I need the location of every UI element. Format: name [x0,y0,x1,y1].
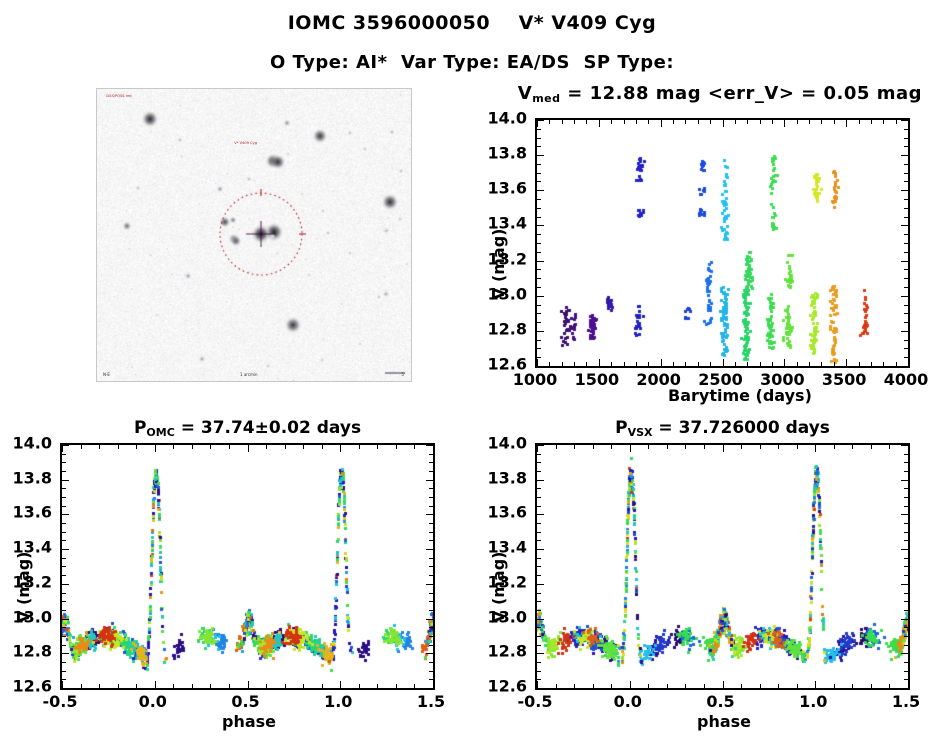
phase-omc-canvas [62,445,433,688]
axis-minor-tick [136,684,137,688]
axis-minor-tick [593,445,594,449]
y-tick-label: 13.4 [488,214,527,233]
axis-tick [901,261,908,262]
axis-tick [426,619,433,620]
phase-vsx-title: PVSX = 37.726000 days [535,418,910,439]
axis-minor-tick [266,684,267,688]
axis-minor-tick [772,120,773,124]
page-title: IOMC 3596000050 V* V409 Cyg [0,12,944,34]
phase-omc-title: POMC = 37.74±0.02 days [60,418,435,439]
y-tick-label: 13.6 [13,503,52,522]
axis-tick [723,359,724,366]
axis-minor-tick [904,217,908,218]
axis-minor-tick [797,362,798,366]
y-tick-label: 13.8 [488,468,527,487]
axis-minor-tick [537,662,541,663]
x-tick-label: 3000 [760,370,805,389]
axis-tick [901,688,908,689]
sky-finding-chart[interactable]: DSS/POSS red V* V409 Cyg N-E 1 arcmin 5' [96,88,412,382]
axis-minor-tick [574,445,575,449]
axis-tick [155,445,156,452]
axis-tick [901,120,908,121]
y-tick-label: 13.4 [488,538,527,557]
axis-minor-tick [429,662,433,663]
axis-minor-tick [537,305,541,306]
axis-minor-tick [797,120,798,124]
axis-minor-tick [266,445,267,449]
axis-tick [723,445,724,452]
y-tick-label: 13.0 [13,607,52,626]
axis-minor-tick [904,454,908,455]
y-tick-label: 13.2 [13,572,52,591]
axis-minor-tick [429,679,433,680]
axis-minor-tick [537,679,541,680]
axis-minor-tick [636,362,637,366]
axis-minor-tick [904,566,908,567]
sky-scalebar-label: 5' [401,372,405,377]
vmed-subscript: med [532,92,560,105]
axis-minor-tick [99,445,100,449]
axis-tick [537,619,544,620]
axis-minor-tick [429,506,433,507]
y-tick-label: 12.8 [13,642,52,661]
axis-tick [426,688,433,689]
y-tick-label: 12.8 [488,319,527,338]
axis-minor-tick [760,445,761,449]
x-tick-label: 1.0 [324,692,352,711]
axis-minor-tick [760,362,761,366]
vmed-symbol: V [518,83,532,104]
axis-minor-tick [809,120,810,124]
axis-minor-tick [685,684,686,688]
x-tick-label: 0.5 [706,692,734,711]
axis-tick [537,445,544,446]
axis-minor-tick [81,684,82,688]
axis-minor-tick [904,322,908,323]
axis-minor-tick [377,684,378,688]
axis-minor-tick [593,684,594,688]
axis-minor-tick [429,454,433,455]
axis-minor-tick [62,601,66,602]
axis-tick [155,681,156,688]
sky-survey-label: DSS/POSS red [106,93,131,98]
axis-minor-tick [704,684,705,688]
axis-minor-tick [285,684,286,688]
axis-minor-tick [834,120,835,124]
axis-minor-tick [904,129,908,130]
axis-minor-tick [741,445,742,449]
axis-tick [537,681,538,688]
axis-minor-tick [904,287,908,288]
period-symbol: P [134,418,146,438]
axis-minor-tick [429,497,433,498]
axis-minor-tick [537,199,541,200]
axis-minor-tick [834,684,835,688]
axis-tick [723,120,724,127]
axis-minor-tick [904,627,908,628]
axis-minor-tick [883,362,884,366]
axis-minor-tick [834,445,835,449]
sky-image-canvas [97,89,411,381]
axis-minor-tick [904,532,908,533]
axis-minor-tick [549,120,550,124]
axis-minor-tick [537,575,541,576]
axis-minor-tick [322,445,323,449]
axis-minor-tick [537,269,541,270]
axis-tick [901,480,908,481]
axis-minor-tick [537,497,541,498]
axis-minor-tick [904,540,908,541]
axis-tick [661,120,662,127]
axis-minor-tick [735,362,736,366]
axis-minor-tick [429,601,433,602]
axis-tick [846,120,847,127]
axis-minor-tick [904,523,908,524]
axis-minor-tick [210,684,211,688]
sky-target-label: V* V409 Cyg [234,140,257,145]
axis-minor-tick [537,173,541,174]
axis-minor-tick [904,462,908,463]
axis-minor-tick [904,575,908,576]
axis-minor-tick [741,684,742,688]
y-tick-label: 12.6 [488,677,527,696]
object-type-line: O Type: AI* Var Type: EA/DS SP Type: [0,52,944,73]
axis-minor-tick [62,454,66,455]
axis-tick [537,120,544,121]
axis-minor-tick [62,497,66,498]
axis-minor-tick [698,120,699,124]
axis-minor-tick [62,662,66,663]
period-subscript: OMC [146,426,174,439]
axis-minor-tick [229,684,230,688]
period-subscript: VSX [628,426,653,439]
axis-minor-tick [821,120,822,124]
axis-minor-tick [710,362,711,366]
axis-tick [723,681,724,688]
axis-minor-tick [537,234,541,235]
axis-minor-tick [62,566,66,567]
axis-tick [537,688,544,689]
axis-minor-tick [904,340,908,341]
axis-minor-tick [735,120,736,124]
axis-minor-tick [537,532,541,533]
axis-minor-tick [229,445,230,449]
axis-tick [901,653,908,654]
axis-minor-tick [904,234,908,235]
axis-minor-tick [834,362,835,366]
axis-tick [62,445,63,452]
axis-minor-tick [537,340,541,341]
x-tick-label: 3500 [822,370,867,389]
axis-minor-tick [429,671,433,672]
axis-tick [537,225,544,226]
axis-minor-tick [62,558,66,559]
axis-tick [62,480,69,481]
axis-minor-tick [889,445,890,449]
axis-minor-tick [62,645,66,646]
axis-tick [537,261,544,262]
axis-minor-tick [797,684,798,688]
axis-tick [908,359,909,366]
axis-minor-tick [904,671,908,672]
axis-minor-tick [62,532,66,533]
axis-minor-tick [62,540,66,541]
axis-minor-tick [118,445,119,449]
axis-minor-tick [62,523,66,524]
axis-tick [426,584,433,585]
axis-minor-tick [549,362,550,366]
axis-minor-tick [904,662,908,663]
axis-minor-tick [537,627,541,628]
axis-tick [901,514,908,515]
axis-minor-tick [62,488,66,489]
axis-minor-tick [904,497,908,498]
x-tick-label: 0.0 [614,692,642,711]
y-tick-label: 13.6 [488,179,527,198]
axis-tick [901,549,908,550]
y-tick-label: 12.6 [13,677,52,696]
y-tick-label: 13.0 [488,284,527,303]
axis-tick [901,296,908,297]
axis-minor-tick [778,684,779,688]
axis-minor-tick [562,362,563,366]
y-tick-label: 12.8 [488,642,527,661]
axis-tick [248,681,249,688]
axis-minor-tick [673,120,674,124]
axis-minor-tick [285,445,286,449]
axis-minor-tick [322,684,323,688]
axis-minor-tick [414,445,415,449]
axis-minor-tick [685,445,686,449]
axis-minor-tick [871,362,872,366]
axis-minor-tick [871,684,872,688]
axis-minor-tick [429,523,433,524]
axis-minor-tick [537,671,541,672]
axis-minor-tick [303,684,304,688]
axis-minor-tick [760,684,761,688]
axis-tick [426,445,433,446]
axis-minor-tick [537,322,541,323]
x-tick-label: 1.0 [799,692,827,711]
axis-minor-tick [537,462,541,463]
x-tick-label: 2500 [698,370,743,389]
axis-minor-tick [62,462,66,463]
axis-tick [62,688,69,689]
axis-minor-tick [904,305,908,306]
axis-tick [426,514,433,515]
axis-minor-tick [556,684,557,688]
axis-tick [340,445,341,452]
period-symbol: P [615,418,627,438]
axis-minor-tick [904,199,908,200]
axis-minor-tick [62,593,66,594]
axis-minor-tick [537,208,541,209]
axis-minor-tick [537,540,541,541]
x-tick-label: 2000 [636,370,681,389]
axis-tick [901,619,908,620]
axis-minor-tick [772,362,773,366]
axis-minor-tick [747,362,748,366]
axis-minor-tick [429,575,433,576]
axis-tick [340,681,341,688]
y-tick-label: 13.2 [488,572,527,591]
axis-minor-tick [173,445,174,449]
axis-minor-tick [429,627,433,628]
axis-minor-tick [537,645,541,646]
axis-minor-tick [889,684,890,688]
axis-minor-tick [904,252,908,253]
axis-minor-tick [574,684,575,688]
axis-minor-tick [896,120,897,124]
axis-minor-tick [704,445,705,449]
axis-tick [630,681,631,688]
y-tick-label: 12.6 [488,355,527,374]
axis-minor-tick [556,445,557,449]
axis-minor-tick [429,645,433,646]
axis-minor-tick [904,488,908,489]
axis-minor-tick [648,362,649,366]
axis-minor-tick [667,445,668,449]
axis-minor-tick [760,120,761,124]
y-tick-label: 13.8 [488,144,527,163]
lightcurve-time-plot[interactable] [535,118,910,368]
axis-minor-tick [537,471,541,472]
x-tick-label: 0.5 [231,692,259,711]
phase-vsx-xaxis-label: phase [697,712,751,731]
axis-tick [62,681,63,688]
axis-minor-tick [537,313,541,314]
axis-minor-tick [648,445,649,449]
y-tick-label: 13.0 [488,607,527,626]
axis-tick [908,120,909,127]
axis-minor-tick [537,348,541,349]
axis-minor-tick [904,278,908,279]
axis-minor-tick [904,610,908,611]
axis-minor-tick [118,684,119,688]
axis-tick [537,514,544,515]
x-tick-label: 1.5 [417,692,445,711]
axis-minor-tick [396,684,397,688]
axis-minor-tick [359,684,360,688]
axis-minor-tick [904,645,908,646]
axis-minor-tick [62,636,66,637]
axis-minor-tick [537,506,541,507]
axis-minor-tick [904,348,908,349]
axis-minor-tick [904,243,908,244]
axis-minor-tick [537,252,541,253]
axis-minor-tick [904,146,908,147]
axis-minor-tick [859,362,860,366]
axis-tick [62,445,69,446]
axis-tick [846,359,847,366]
axis-minor-tick [537,217,541,218]
axis-minor-tick [904,558,908,559]
axis-tick [784,359,785,366]
axis-tick [901,366,908,367]
axis-tick [62,584,69,585]
sky-orientation-label: N-E [103,372,110,377]
axis-minor-tick [210,445,211,449]
axis-tick [248,445,249,452]
axis-minor-tick [611,684,612,688]
x-tick-label: 0.0 [139,692,167,711]
axis-tick [599,120,600,127]
axis-tick [433,681,434,688]
x-tick-label: 4000 [884,370,929,389]
axis-minor-tick [904,636,908,637]
axis-tick [537,480,544,481]
axis-minor-tick [698,362,699,366]
axis-minor-tick [537,558,541,559]
axis-minor-tick [359,445,360,449]
axis-minor-tick [429,462,433,463]
axis-tick [537,331,544,332]
axis-minor-tick [852,445,853,449]
axis-minor-tick [429,593,433,594]
axis-tick [661,359,662,366]
axis-minor-tick [62,610,66,611]
axis-minor-tick [62,575,66,576]
axis-minor-tick [904,593,908,594]
axis-minor-tick [414,684,415,688]
axis-tick [901,445,908,446]
axis-tick [537,190,544,191]
axis-tick [62,653,69,654]
axis-minor-tick [136,445,137,449]
axis-tick [537,549,544,550]
axis-minor-tick [562,120,563,124]
axis-minor-tick [648,684,649,688]
phase-vsx-plot[interactable] [535,443,910,690]
y-tick-label: 14.0 [488,109,527,128]
axis-tick [901,584,908,585]
axis-minor-tick [377,445,378,449]
axis-tick [537,653,544,654]
axis-minor-tick [537,243,541,244]
axis-minor-tick [429,471,433,472]
axis-minor-tick [429,558,433,559]
axis-minor-tick [611,362,612,366]
y-tick-label: 13.8 [13,468,52,487]
axis-tick [426,480,433,481]
axis-tick [908,681,909,688]
axis-minor-tick [537,454,541,455]
y-tick-label: 13.6 [488,503,527,522]
axis-minor-tick [904,138,908,139]
x-tick-label: 1.5 [892,692,920,711]
axis-minor-tick [904,506,908,507]
axis-minor-tick [173,684,174,688]
axis-minor-tick [62,679,66,680]
axis-minor-tick [429,610,433,611]
axis-tick [537,359,538,366]
axis-tick [537,584,544,585]
phase-omc-plot[interactable] [60,443,435,690]
axis-minor-tick [192,445,193,449]
axis-minor-tick [648,120,649,124]
axis-minor-tick [821,362,822,366]
axis-minor-tick [537,636,541,637]
period-value-text: = 37.726000 days [652,418,829,438]
axis-minor-tick [62,627,66,628]
period-value-text: = 37.74±0.02 days [175,418,361,438]
axis-minor-tick [667,684,668,688]
axis-minor-tick [429,540,433,541]
axis-minor-tick [574,362,575,366]
axis-minor-tick [429,488,433,489]
axis-minor-tick [537,357,541,358]
vmed-values: = 12.88 mag <err_V> = 0.05 mag [560,83,922,104]
